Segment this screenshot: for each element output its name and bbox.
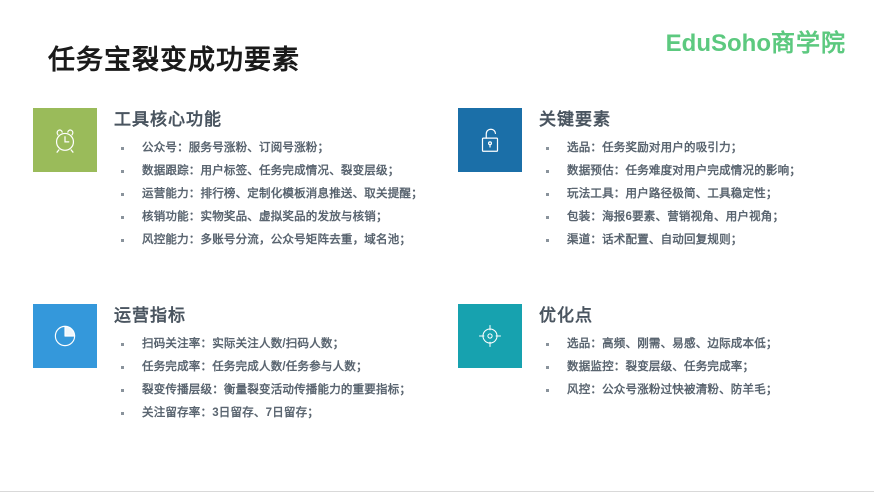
list-item: 核销功能：实物奖品、虚拟奖品的发放与核销； xyxy=(114,206,433,229)
icon-box-tools xyxy=(33,108,97,172)
icon-box-optimization-points xyxy=(458,304,522,368)
block-heading-operation-metrics: 运营指标 xyxy=(114,306,433,326)
list-item: 玩法工具：用户路径极简、工具稳定性； xyxy=(539,183,858,206)
icon-box-key-factors xyxy=(458,108,522,172)
list-item: 风控能力：多账号分流，公众号矩阵去重，域名池； xyxy=(114,229,433,252)
bullet-list-operation-metrics: 扫码关注率：实际关注人数/扫码人数； 任务完成率：任务完成人数/任务参与人数； … xyxy=(114,333,433,425)
bullet-list-tools: 公众号：服务号涨粉、订阅号涨粉； 数据跟踪：用户标签、任务完成情况、裂变层级； … xyxy=(114,137,433,252)
list-item: 裂变传播层级：衡量裂变活动传播能力的重要指标； xyxy=(114,379,433,402)
list-item: 数据跟踪：用户标签、任务完成情况、裂变层级； xyxy=(114,160,433,183)
list-item: 风控：公众号涨粉过快被清粉、防羊毛； xyxy=(539,379,858,402)
block-heading-tools: 工具核心功能 xyxy=(114,110,433,130)
list-item: 选品：高频、刚需、易感、边际成本低； xyxy=(539,333,858,356)
presentation-slide: 任务宝裂变成功要素 EduSoho商学院 工具核心功能 公众号：服务号涨粉、订阅… xyxy=(0,0,874,492)
list-item: 公众号：服务号涨粉、订阅号涨粉； xyxy=(114,137,433,160)
list-item: 运营能力：排行榜、定制化模板消息推送、取关提醒； xyxy=(114,183,433,206)
list-item: 渠道：话术配置、自动回复规则； xyxy=(539,229,858,252)
pie-chart-icon xyxy=(51,322,79,350)
block-tools: 工具核心功能 公众号：服务号涨粉、订阅号涨粉； 数据跟踪：用户标签、任务完成情况… xyxy=(33,108,433,252)
brand-logo-cn: 商学院 xyxy=(771,30,846,57)
brand-logo-en: EduSoho xyxy=(666,30,771,57)
page-title: 任务宝裂变成功要素 xyxy=(48,38,300,77)
block-body-key-factors: 关键要素 选品：任务奖励对用户的吸引力； 数据预估：任务难度对用户完成情况的影响… xyxy=(539,108,858,252)
list-item: 扫码关注率：实际关注人数/扫码人数； xyxy=(114,333,433,356)
block-key-factors: 关键要素 选品：任务奖励对用户的吸引力； 数据预估：任务难度对用户完成情况的影响… xyxy=(458,108,858,252)
alarm-clock-icon xyxy=(50,125,80,155)
target-crosshair-icon xyxy=(476,322,504,350)
bullet-list-optimization-points: 选品：高频、刚需、易感、边际成本低； 数据监控：裂变层级、任务完成率； 风控：公… xyxy=(539,333,858,402)
block-body-optimization-points: 优化点 选品：高频、刚需、易感、边际成本低； 数据监控：裂变层级、任务完成率； … xyxy=(539,304,858,402)
list-item: 包装：海报6要素、营销视角、用户视角； xyxy=(539,206,858,229)
unlocked-padlock-icon xyxy=(476,125,504,155)
bullet-list-key-factors: 选品：任务奖励对用户的吸引力； 数据预估：任务难度对用户完成情况的影响； 玩法工… xyxy=(539,137,858,252)
icon-box-operation-metrics xyxy=(33,304,97,368)
block-optimization-points: 优化点 选品：高频、刚需、易感、边际成本低； 数据监控：裂变层级、任务完成率； … xyxy=(458,304,858,402)
block-body-tools: 工具核心功能 公众号：服务号涨粉、订阅号涨粉； 数据跟踪：用户标签、任务完成情况… xyxy=(114,108,433,252)
brand-logo: EduSoho商学院 xyxy=(666,23,846,58)
block-heading-key-factors: 关键要素 xyxy=(539,110,858,130)
list-item: 选品：任务奖励对用户的吸引力； xyxy=(539,137,858,160)
list-item: 数据监控：裂变层级、任务完成率； xyxy=(539,356,858,379)
block-body-operation-metrics: 运营指标 扫码关注率：实际关注人数/扫码人数； 任务完成率：任务完成人数/任务参… xyxy=(114,304,433,425)
block-operation-metrics: 运营指标 扫码关注率：实际关注人数/扫码人数； 任务完成率：任务完成人数/任务参… xyxy=(33,304,433,425)
block-heading-optimization-points: 优化点 xyxy=(539,306,858,326)
list-item: 任务完成率：任务完成人数/任务参与人数； xyxy=(114,356,433,379)
list-item: 数据预估：任务难度对用户完成情况的影响； xyxy=(539,160,858,183)
list-item: 关注留存率：3日留存、7日留存； xyxy=(114,402,433,425)
